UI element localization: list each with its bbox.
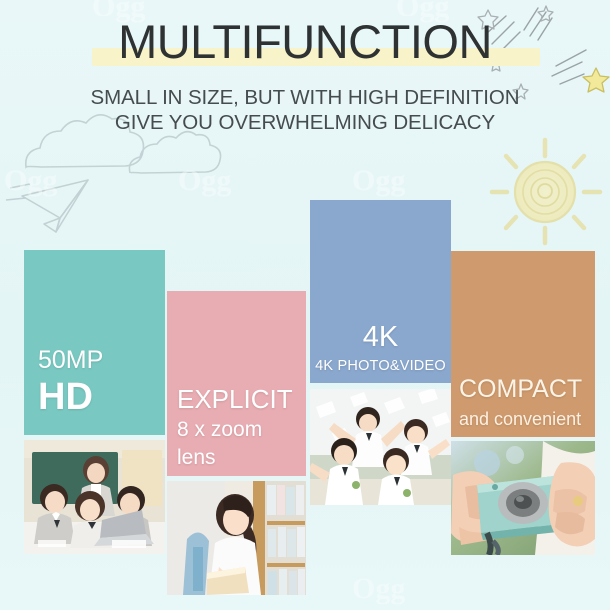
feature-card-hd-line2: HD [38, 375, 165, 419]
cheering-students-photo [310, 389, 451, 505]
feature-card-explicit-line2: 8 x zoom lens [177, 416, 306, 472]
feature-card-hd-line1: 50MP [38, 345, 165, 375]
photo-art [310, 389, 451, 505]
page-subtitle: SMALL IN SIZE, BUT WITH HIGH DEFINITION … [0, 85, 610, 135]
svg-text:Ogg: Ogg [178, 164, 231, 197]
svg-text:Ogg: Ogg [352, 164, 405, 197]
feature-card-hd-color-block: 50MP HD [24, 250, 165, 435]
photo-art [24, 440, 165, 554]
feature-card-compact[interactable]: COMPACT and convenient [451, 251, 595, 555]
photo-art [167, 481, 306, 595]
svg-text:Ogg: Ogg [4, 164, 57, 197]
feature-card-hd[interactable]: 50MP HD [24, 250, 165, 554]
page-title: MULTIFUNCTION [118, 14, 492, 70]
feature-card-compact-line2: and convenient [459, 406, 595, 432]
paper-plane-icon [6, 180, 88, 232]
woman-in-library-photo [167, 481, 306, 595]
feature-card-compact-line1: COMPACT [459, 372, 595, 406]
feature-card-4k-color-block: 4K 4K PHOTO&VIDEO [310, 200, 451, 383]
sun-icon [492, 140, 600, 243]
subtitle-line-1: SMALL IN SIZE, BUT WITH HIGH DEFINITION [0, 85, 610, 110]
feature-card-compact-color-block: COMPACT and convenient [451, 251, 595, 437]
page-title-wrap: MULTIFUNCTION [0, 14, 610, 70]
product-feature-banner: Ogg Ogg Ogg Ogg Ogg Ogg Ogg MULTIFUNCTIO… [0, 0, 610, 610]
subtitle-line-2: GIVE YOU OVERWHELMING DELICACY [0, 110, 610, 135]
photo-art [451, 441, 595, 555]
feature-card-explicit[interactable]: EXPLICIT 8 x zoom lens [167, 291, 306, 595]
students-with-laptop-photo [24, 440, 165, 554]
feature-card-explicit-color-block: EXPLICIT 8 x zoom lens [167, 291, 306, 476]
feature-card-4k[interactable]: 4K 4K PHOTO&VIDEO [310, 200, 451, 505]
feature-card-4k-line1: 4K [310, 319, 451, 355]
hands-holding-camera-photo [451, 441, 595, 555]
svg-text:Ogg: Ogg [352, 572, 405, 605]
feature-card-explicit-line1: EXPLICIT [177, 382, 306, 416]
feature-card-4k-line2: 4K PHOTO&VIDEO [310, 355, 451, 377]
